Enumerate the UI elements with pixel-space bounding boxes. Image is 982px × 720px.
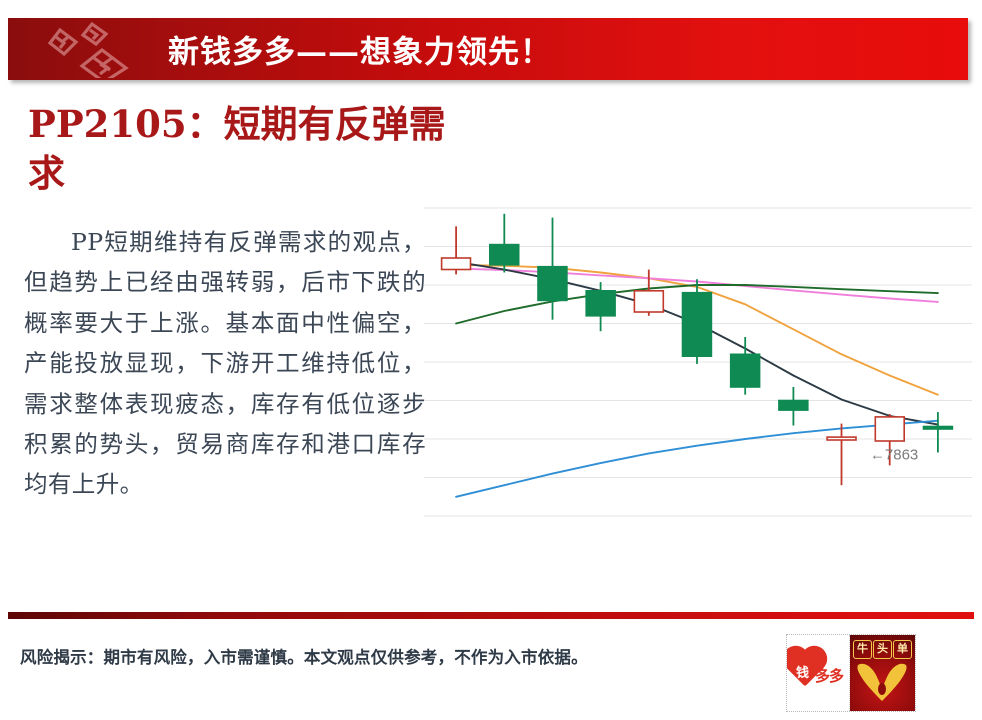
- risk-disclaimer: 风险揭示：期市有风险，入市需谨慎。本文观点仅供参考，不作为入市依据。: [20, 644, 588, 668]
- logo-left-panel: 钱 多多: [787, 635, 850, 711]
- candle-body: [634, 291, 663, 312]
- candle: [442, 226, 471, 274]
- chart-annotation: ←7863: [870, 446, 918, 463]
- bull-head-icon: [854, 659, 910, 705]
- ma-line-ma-blue: [456, 421, 938, 497]
- candle: [490, 214, 519, 273]
- candle-body: [731, 354, 760, 387]
- logo-duoduo-text: 多多: [815, 665, 843, 686]
- header-title: 新钱多多——想象力领先！: [168, 27, 552, 72]
- footer-divider: [8, 612, 974, 619]
- candle-body: [875, 417, 904, 441]
- candle: [731, 337, 760, 395]
- logo-qian-text: 钱: [796, 662, 809, 681]
- candle: [924, 412, 953, 452]
- candle-body: [924, 427, 953, 430]
- chart-svg: ←7863: [424, 200, 972, 522]
- candle-body: [538, 267, 567, 301]
- candle: [779, 387, 808, 426]
- header-banner: 新钱多多——想象力领先！: [8, 18, 968, 80]
- candle-body: [827, 437, 856, 440]
- body-paragraph: PP短期维持有反弹需求的观点，但趋势上已经由强转弱，后市下跌的概率要大于上涨。基…: [24, 222, 426, 505]
- chinese-knot-emblem-icon: [30, 20, 160, 78]
- candle-body: [779, 401, 808, 411]
- page-title: PP2105：短期有反弹需求: [28, 100, 448, 198]
- brand-logo: 钱 多多 牛 头 单: [786, 634, 916, 712]
- logo-box-3: 单: [893, 640, 912, 659]
- candle-body: [683, 293, 712, 357]
- logo-right-panel: 牛 头 单: [850, 635, 915, 711]
- candle: [827, 424, 856, 486]
- candle-body: [442, 258, 471, 270]
- candle: [683, 279, 712, 364]
- candlestick-chart: ←7863: [424, 200, 972, 522]
- logo-box-2: 头: [873, 640, 892, 659]
- logo-box-1: 牛: [853, 640, 872, 659]
- candle-body: [586, 291, 615, 316]
- candle-body: [490, 245, 519, 265]
